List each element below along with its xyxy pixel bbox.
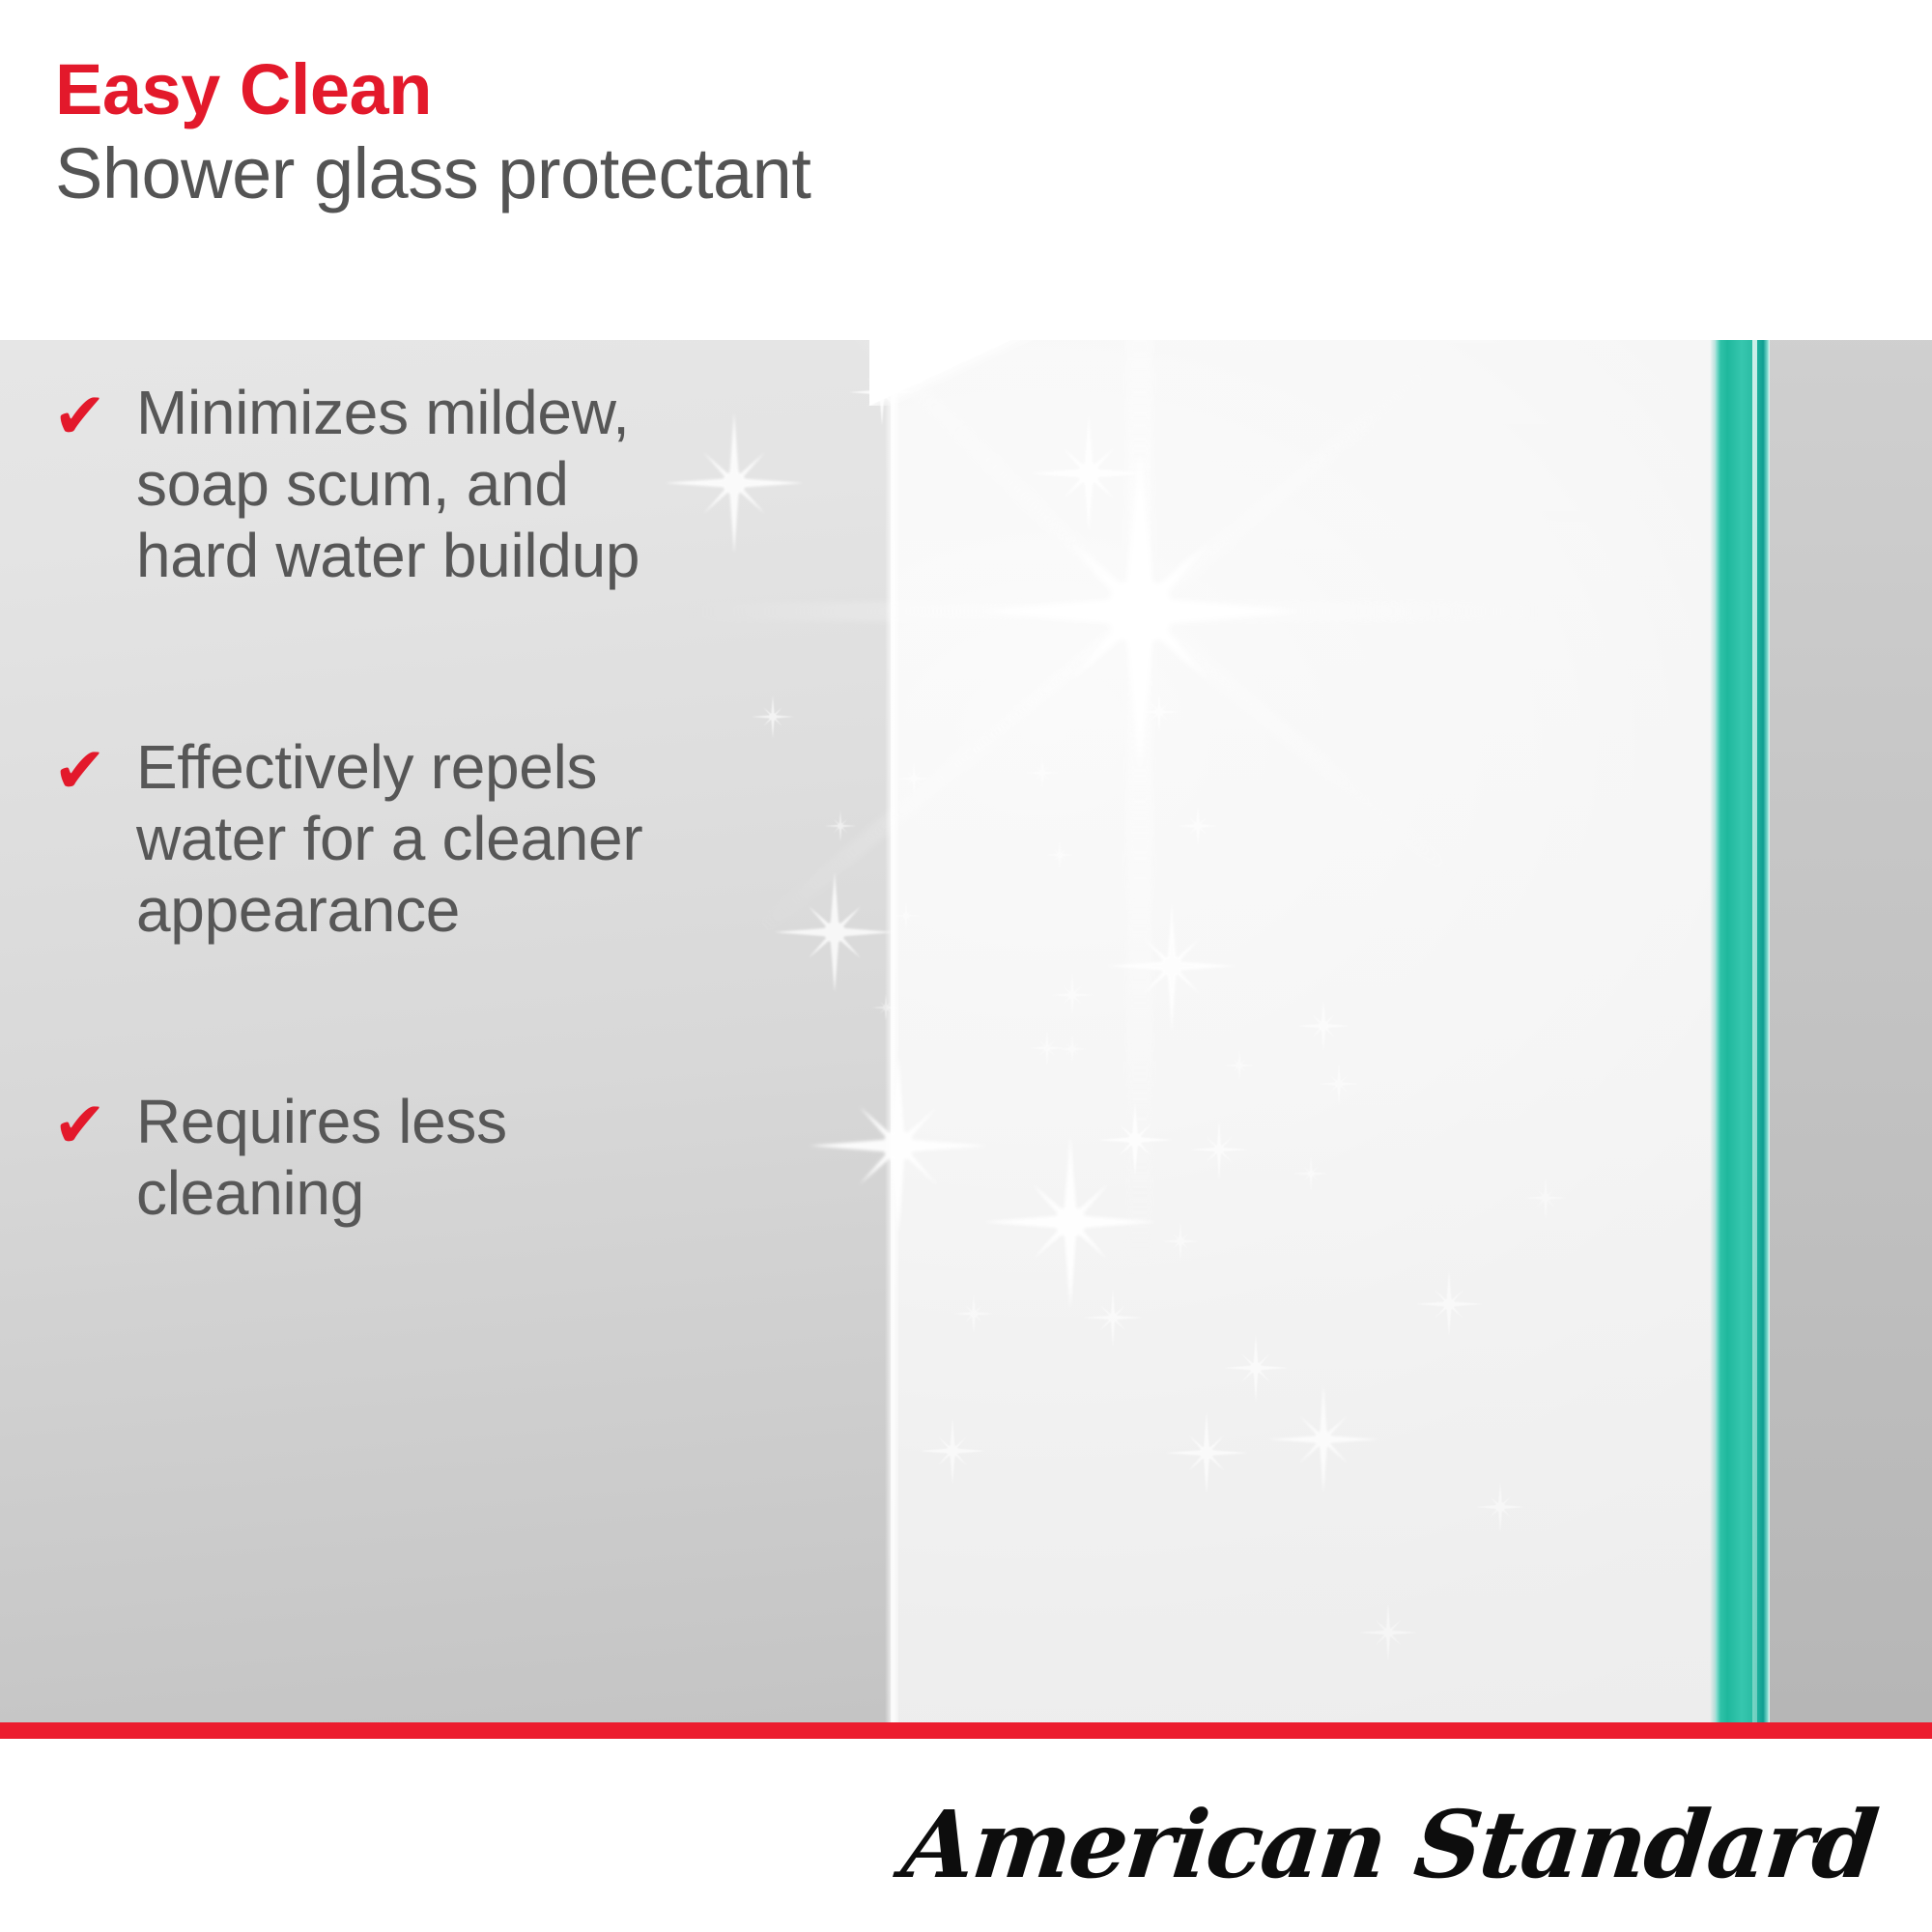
check-icon: ✔ [53, 739, 136, 803]
feature-list: ✔ Minimizes mildew, soap scum, and hard … [0, 340, 734, 1722]
header-band: Easy Clean Shower glass protectant [0, 0, 1932, 340]
list-item: ✔ Effectively repels water for a cleaner… [53, 731, 677, 947]
page-subtitle: Shower glass protectant [55, 138, 810, 210]
check-icon: ✔ [53, 1094, 136, 1157]
red-divider [0, 1722, 1932, 1739]
glass-panel-left-edge [885, 224, 898, 1722]
page-title: Easy Clean [55, 54, 432, 126]
feature-text: Effectively repels water for a cleaner a… [136, 731, 677, 947]
list-item: ✔ Minimizes mildew, soap scum, and hard … [53, 377, 677, 592]
feature-text: Minimizes mildew, soap scum, and hard wa… [136, 377, 677, 592]
list-item: ✔ Requires less cleaning [53, 1086, 677, 1229]
check-icon: ✔ [53, 384, 136, 448]
american-standard-logo: American Standard [898, 1799, 1881, 1891]
footer-band: American Standard [0, 1739, 1932, 1932]
feature-text: Requires less cleaning [136, 1086, 677, 1229]
infographic-page: Easy Clean Shower glass protectant ✔ Min… [0, 0, 1932, 1932]
